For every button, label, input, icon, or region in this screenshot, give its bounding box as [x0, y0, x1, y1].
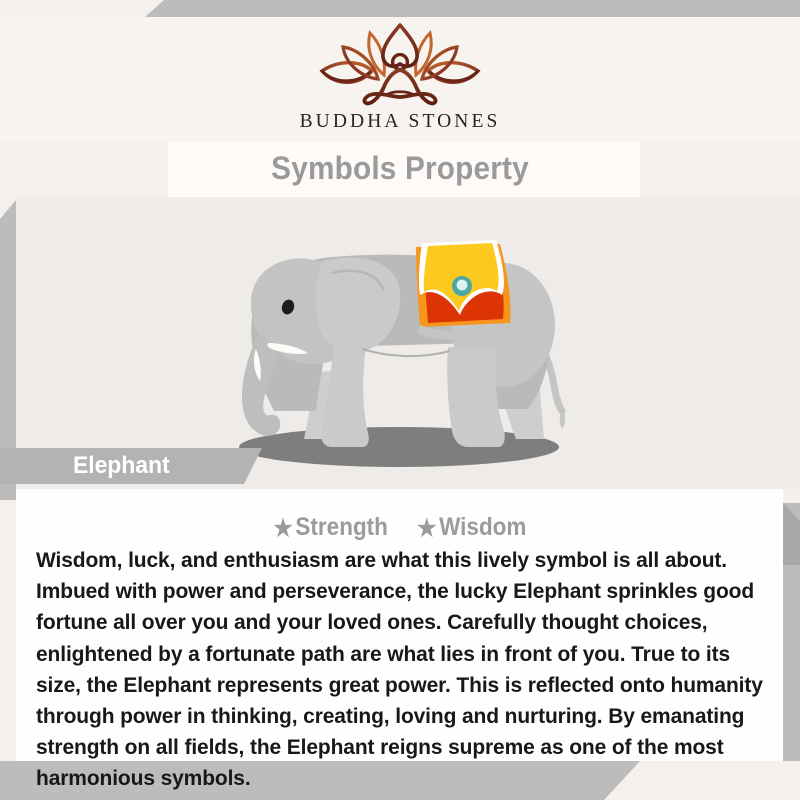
symbol-name-label: Elephant: [73, 452, 170, 480]
elephant-shadow: [239, 427, 559, 467]
brand-name: BUDDHA STONES: [285, 111, 515, 133]
attribute-strength: ★Strength: [274, 513, 389, 543]
attribute-strength-label: Strength: [296, 513, 389, 541]
attribute-wisdom-label: Wisdom: [439, 513, 526, 541]
page-title: Symbols Property: [28, 150, 772, 187]
brand-header: BUDDHA STONES: [0, 17, 800, 142]
star-icon: ★: [274, 514, 293, 543]
star-icon: ★: [417, 514, 436, 543]
saddle-gem-highlight: [457, 280, 468, 291]
walking-elephant-with-decorated-saddle-illustration: [16, 197, 800, 489]
decorative-ribbon-top: [145, 0, 800, 17]
attributes-row: ★Strength ★Wisdom: [0, 513, 800, 543]
symbol-property-card: BUDDHA STONES Symbols Property: [0, 0, 800, 800]
symbol-description: Wisdom, luck, and enthusiasm are what th…: [36, 545, 767, 795]
brand-logo: BUDDHA STONES: [285, 21, 515, 133]
attribute-wisdom: ★Wisdom: [417, 513, 526, 543]
lotus-meditation-figure-icon: [310, 21, 490, 113]
illustration-panel: [16, 197, 800, 489]
